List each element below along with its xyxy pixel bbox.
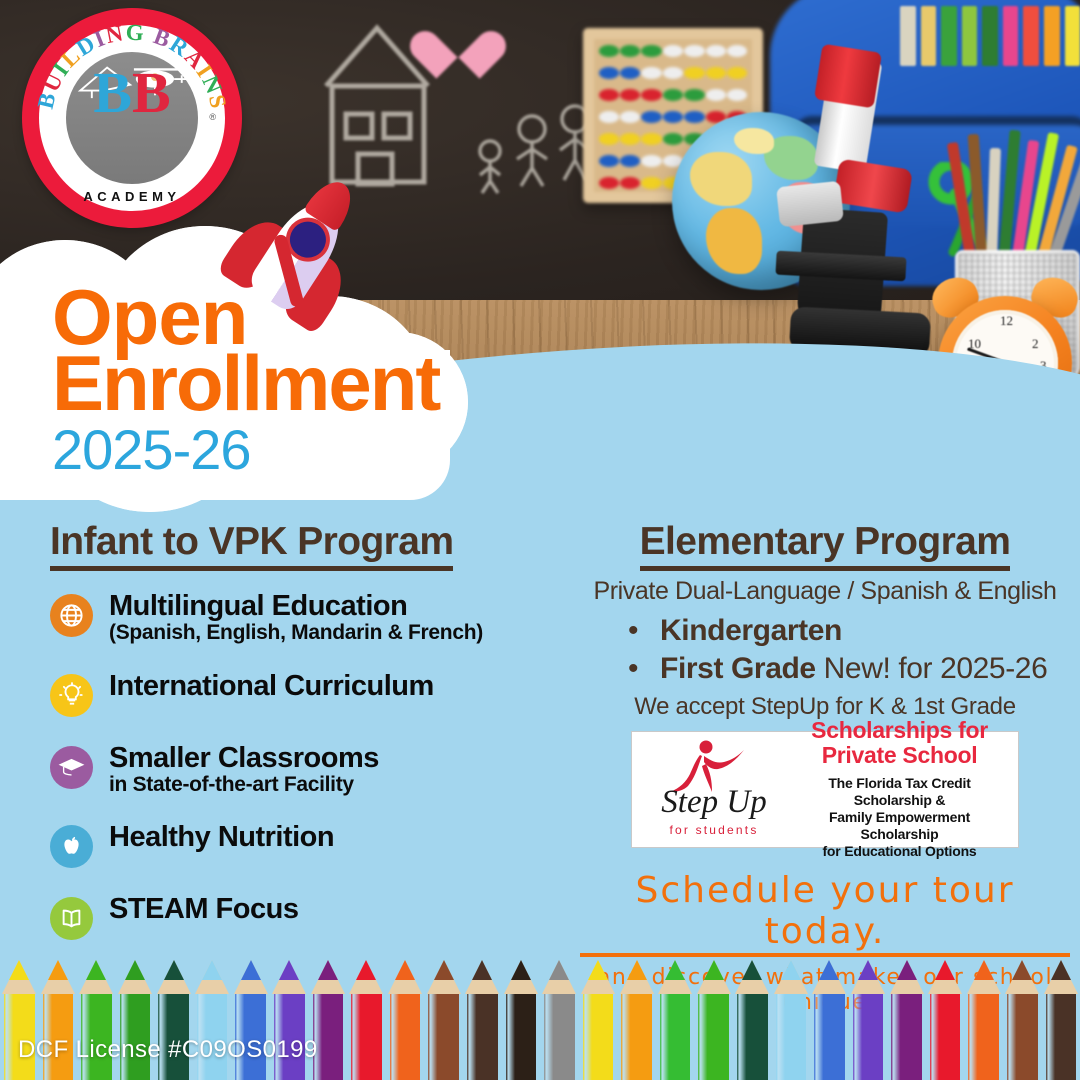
infant-vpk-column: Infant to VPK Program Multilingual Educa… <box>50 520 560 940</box>
grade-list: Kindergarten First Grade New! for 2025-2… <box>628 612 1070 689</box>
pencil <box>116 990 155 1080</box>
pencil <box>887 990 926 1080</box>
pencil <box>926 990 965 1080</box>
feature-title: Healthy Nutrition <box>109 822 334 852</box>
stepup-body-line-1: The Florida Tax Credit Scholarship & <box>789 775 1010 809</box>
flyer-root: 12 2 3 4 6 8 9 10 Open Enrollme <box>0 0 1080 1080</box>
feature-subtitle: in State-of-the-art Facility <box>109 773 379 796</box>
stepup-brand-word: Step Up <box>648 786 780 819</box>
grade-name: First Grade <box>660 652 816 685</box>
feature-curriculum: International Curriculum <box>50 671 560 717</box>
pencil <box>270 990 309 1080</box>
logo-monogram-second: B <box>132 60 171 125</box>
backpack-pencils <box>900 6 1080 66</box>
pencil <box>77 990 116 1080</box>
logo-monogram-first: B <box>93 60 132 125</box>
pencil-cup-contents <box>950 130 1080 260</box>
pencil <box>579 990 618 1080</box>
chalk-heart-drawing <box>430 18 488 72</box>
pencil <box>540 990 579 1080</box>
feature-classrooms: Smaller Classrooms in State-of-the-art F… <box>50 743 560 797</box>
feature-title: Smaller Classrooms <box>109 743 379 773</box>
infant-vpk-title: Infant to VPK Program <box>50 520 453 571</box>
pencil <box>694 990 733 1080</box>
logo-bottom-text: ACADEMY <box>22 189 242 204</box>
pencil <box>656 990 695 1080</box>
pencil <box>502 990 541 1080</box>
stepup-heading-line-2: Private School <box>789 743 1010 768</box>
stepup-logo: Step Up for students <box>640 738 785 841</box>
pencil <box>39 990 78 1080</box>
grade-note: New! for 2025-26 <box>816 652 1048 685</box>
grade-name: Kindergarten <box>660 614 842 647</box>
pencil <box>347 990 386 1080</box>
feature-nutrition: Healthy Nutrition <box>50 822 560 868</box>
pencil <box>309 990 348 1080</box>
pencil <box>1042 990 1080 1080</box>
pencil <box>386 990 425 1080</box>
pencil <box>772 990 811 1080</box>
graduation-cap-icon <box>50 746 93 789</box>
feature-title: STEAM Focus <box>109 894 298 924</box>
list-item: First Grade New! for 2025-26 <box>628 650 1070 688</box>
feature-multilingual: Multilingual Education (Spanish, English… <box>50 591 560 645</box>
stepup-scholarship-card: Step Up for students Scholarships for Pr… <box>631 731 1019 848</box>
pencil <box>733 990 772 1080</box>
pencil <box>617 990 656 1080</box>
apple-icon <box>50 825 93 868</box>
pencil <box>0 990 39 1080</box>
stepup-heading-line-1: Scholarships for <box>789 718 1010 743</box>
globe-icon <box>50 594 93 637</box>
license-text: DCF License #C09OS0199 <box>18 1036 318 1064</box>
stepup-body-line-3: for Educational Options <box>789 843 1010 860</box>
registered-mark: ® <box>209 112 216 122</box>
cta-headline: Schedule your tour today. <box>580 870 1070 957</box>
list-item: Kindergarten <box>628 612 1070 650</box>
feature-subtitle: (Spanish, English, Mandarin & French) <box>109 621 483 644</box>
pencil <box>231 990 270 1080</box>
pencil <box>154 990 193 1080</box>
feature-title: International Curriculum <box>109 671 434 701</box>
stepup-body-line-2: Family Empowerment Scholarship <box>789 809 1010 843</box>
elementary-subtitle: Private Dual-Language / Spanish & Englis… <box>580 577 1070 606</box>
feature-steam: STEAM Focus <box>50 894 560 940</box>
pencil <box>810 990 849 1080</box>
pencil <box>849 990 888 1080</box>
pencil <box>964 990 1003 1080</box>
feature-title: Multilingual Education <box>109 591 483 621</box>
headline-block: Open Enrollment 2025-26 <box>52 282 472 478</box>
elementary-column: Elementary Program Private Dual-Language… <box>580 520 1070 1015</box>
stick-figure-family-drawing <box>470 95 600 195</box>
headline-year: 2025-26 <box>52 422 472 478</box>
pencil <box>424 990 463 1080</box>
open-book-icon <box>50 897 93 940</box>
school-logo: BUILDING BRAINS BB ® ACADEMY <box>22 8 242 228</box>
headline-line-2: Enrollment <box>52 348 472 420</box>
stepup-brand-sub: for students <box>648 823 780 837</box>
elementary-title: Elementary Program <box>640 520 1011 571</box>
lightbulb-icon <box>50 674 93 717</box>
pencil <box>1003 990 1042 1080</box>
pencil <box>193 990 232 1080</box>
pencil <box>463 990 502 1080</box>
